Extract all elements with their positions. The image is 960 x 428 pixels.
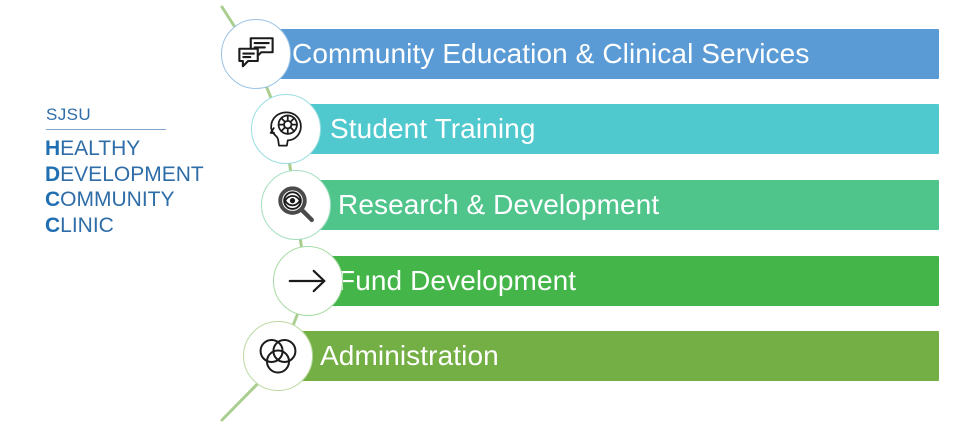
service-label-research-development: Research & Development	[338, 180, 659, 230]
logo-line-healthy-rest: EALTHY	[60, 137, 140, 160]
service-label-student-training: Student Training	[330, 104, 536, 154]
service-node-student-training[interactable]	[251, 94, 321, 164]
service-row-student-training[interactable]: Student Training	[286, 104, 939, 154]
service-label-administration: Administration	[320, 331, 499, 381]
logo-line-clinic: CLINIC	[45, 213, 244, 239]
service-row-fund-development[interactable]: Fund Development	[308, 256, 939, 306]
logo-line-clinic-initial: C	[45, 214, 60, 237]
service-label-fund-development: Fund Development	[338, 256, 576, 306]
service-row-community-education-clinical-services[interactable]: Community Education & Clinical Services	[256, 29, 939, 79]
logo-line-community-rest: OMMUNITY	[60, 188, 174, 211]
service-node-research-development[interactable]	[261, 170, 331, 240]
sjsu-hdcc-logo: SJSU HEALTHY DEVELOPMENT COMMUNITY CLINI…	[44, 105, 244, 238]
service-label-community-education-clinical-services: Community Education & Clinical Services	[292, 29, 809, 79]
logo-line-healthy-initial: H	[45, 137, 60, 160]
logo-wordmark: HEALTHY DEVELOPMENT COMMUNITY CLINIC	[44, 136, 244, 238]
venn-circles-icon	[256, 334, 300, 378]
logo-divider	[46, 129, 166, 131]
service-node-fund-development[interactable]	[273, 246, 343, 316]
logo-line-clinic-rest: LINIC	[60, 214, 114, 237]
logo-line-community-initial: C	[45, 188, 60, 211]
head-brain-icon	[265, 108, 307, 150]
service-node-administration[interactable]	[243, 321, 313, 391]
service-row-research-development[interactable]: Research & Development	[296, 180, 939, 230]
logo-sjsu-text: SJSU	[44, 105, 244, 125]
logo-line-development-rest: EVELOPMENT	[60, 163, 204, 186]
speech-bubbles-icon	[235, 33, 277, 75]
service-node-community-education-clinical-services[interactable]	[221, 19, 291, 89]
logo-line-development: DEVELOPMENT	[45, 162, 244, 188]
logo-line-community: COMMUNITY	[45, 187, 244, 213]
logo-line-development-initial: D	[45, 163, 60, 186]
magnifier-eye-icon	[275, 184, 317, 226]
logo-line-healthy: HEALTHY	[45, 136, 244, 162]
arrow-right-icon	[285, 258, 331, 304]
services-infographic: SJSU HEALTHY DEVELOPMENT COMMUNITY CLINI…	[0, 0, 960, 428]
service-row-administration[interactable]: Administration	[278, 331, 939, 381]
